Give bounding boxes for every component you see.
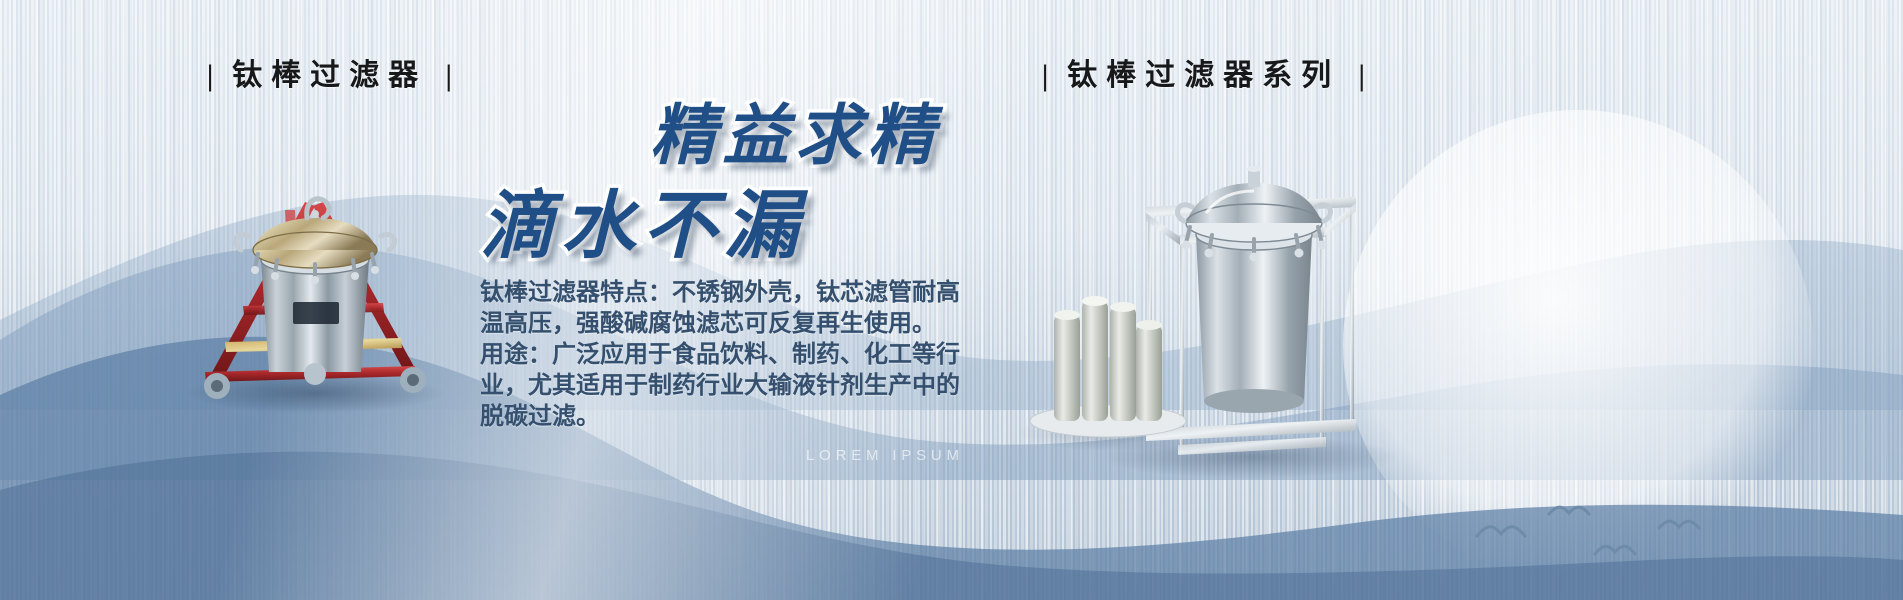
kicker-left-text: 钛棒过滤器 xyxy=(232,59,427,92)
watermark-text: LOREM IPSUM xyxy=(806,447,964,464)
kicker-right-bar-end: | xyxy=(1357,59,1368,92)
headline-line-1: 精益求精 xyxy=(650,82,940,178)
kicker-right-bar-start: | xyxy=(1040,59,1051,92)
body-line: 温高压，强酸碱腐蚀滤芯可反复再生使用。 xyxy=(480,309,1000,340)
product-banner: | 钛棒过滤器 | | 钛棒过滤器系列 | 精益求精 滴水不漏 钛棒过滤器特点：… xyxy=(0,0,1903,600)
kicker-left: | 钛棒过滤器 | xyxy=(205,50,454,94)
body-line: 用途：广泛应用于食品饮料、制药、化工等行 xyxy=(480,340,1000,371)
kicker-right: | 钛棒过滤器系列 | xyxy=(1040,50,1367,94)
body-line: 业，尤其适用于制药行业大输液针剂生产中的 xyxy=(480,371,1000,402)
headline-line-2: 滴水不漏 xyxy=(480,166,806,273)
product-image-left xyxy=(165,110,455,410)
kicker-right-text: 钛棒过滤器系列 xyxy=(1067,59,1340,92)
product-image-right xyxy=(1020,85,1420,505)
body-line: 钛棒过滤器特点：不锈钢外壳，钛芯滤管耐高 xyxy=(480,278,1000,309)
body-copy: 钛棒过滤器特点：不锈钢外壳，钛芯滤管耐高 温高压，强酸碱腐蚀滤芯可反复再生使用。… xyxy=(480,278,1000,433)
kicker-left-bar-end: | xyxy=(444,59,455,92)
body-line: 脱碳过滤。 xyxy=(480,402,1000,433)
kicker-left-bar-start: | xyxy=(205,59,216,92)
